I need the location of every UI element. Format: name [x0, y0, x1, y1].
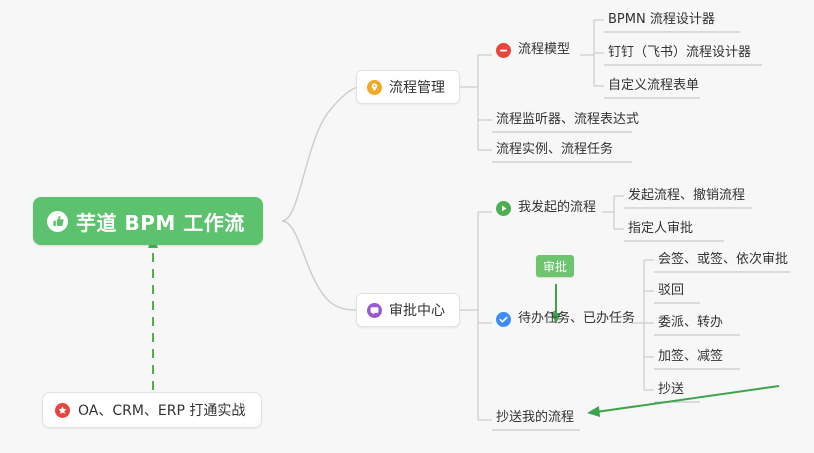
- node-label: 自定义流程表单: [608, 78, 699, 94]
- node-instance-task[interactable]: 流程实例、流程任务: [492, 140, 617, 162]
- play-circle-icon: [496, 201, 511, 216]
- node-my-started-process[interactable]: 我发起的流程: [492, 198, 600, 220]
- location-pin-icon: [367, 80, 382, 95]
- node-delegate-transfer[interactable]: 委派、转办: [654, 313, 727, 335]
- check-circle-icon: [496, 312, 511, 327]
- annotation-tag-approval[interactable]: 审批: [536, 255, 574, 277]
- tag-label: 审批: [543, 258, 567, 275]
- node-label: 待办任务、已办任务: [518, 311, 635, 327]
- node-start-cancel-process[interactable]: 发起流程、撤销流程: [624, 186, 749, 208]
- node-add-remove-sign[interactable]: 加签、减签: [654, 347, 727, 369]
- mindmap-canvas: 芋道 BPM 工作流 流程管理 流程模型 BPMN 流程设计器 钉钉（飞书）流程…: [0, 0, 814, 453]
- node-label: 驳回: [658, 283, 684, 299]
- branch-label: 审批中心: [389, 300, 445, 320]
- node-label: 会签、或签、依次审批: [658, 252, 788, 268]
- node-countersign[interactable]: 会签、或签、依次审批: [654, 250, 792, 272]
- node-todo-done-task[interactable]: 待办任务、已办任务: [492, 309, 639, 331]
- node-label: 钉钉（飞书）流程设计器: [608, 45, 751, 61]
- node-label: 流程监听器、流程表达式: [496, 112, 639, 128]
- node-label: 抄送我的流程: [496, 410, 574, 426]
- branch-node-approval-center[interactable]: 审批中心: [356, 293, 460, 327]
- minus-circle-icon: [496, 43, 511, 58]
- node-process-model[interactable]: 流程模型: [492, 40, 574, 62]
- node-label: 委派、转办: [658, 315, 723, 331]
- node-label: 指定人审批: [628, 221, 693, 237]
- branch-node-process-management[interactable]: 流程管理: [356, 70, 460, 104]
- star-circle-icon: [55, 403, 70, 418]
- node-cc[interactable]: 抄送: [654, 380, 688, 402]
- node-bpmn-designer[interactable]: BPMN 流程设计器: [604, 10, 719, 32]
- message-circle-icon: [367, 303, 382, 318]
- node-label: BPMN 流程设计器: [608, 12, 715, 28]
- node-cc-to-me[interactable]: 抄送我的流程: [492, 408, 578, 430]
- callout-node-integration[interactable]: OA、CRM、ERP 打通实战: [42, 392, 262, 428]
- branch-label: 流程管理: [389, 77, 445, 97]
- node-assign-approver[interactable]: 指定人审批: [624, 219, 697, 241]
- node-label: 我发起的流程: [518, 200, 596, 216]
- root-node[interactable]: 芋道 BPM 工作流: [33, 197, 263, 245]
- node-listener-expression[interactable]: 流程监听器、流程表达式: [492, 110, 643, 132]
- annotation-arrow-callout: [148, 236, 158, 390]
- node-label: 抄送: [658, 382, 684, 398]
- node-label: 流程实例、流程任务: [496, 142, 613, 158]
- thumbs-up-icon: [47, 211, 68, 232]
- node-dingtalk-designer[interactable]: 钉钉（飞书）流程设计器: [604, 43, 755, 65]
- node-reject[interactable]: 驳回: [654, 281, 688, 303]
- root-label: 芋道 BPM 工作流: [76, 207, 245, 236]
- node-label: 流程模型: [518, 42, 570, 58]
- callout-label: OA、CRM、ERP 打通实战: [78, 400, 245, 420]
- node-custom-form[interactable]: 自定义流程表单: [604, 76, 703, 98]
- node-label: 发起流程、撤销流程: [628, 188, 745, 204]
- node-label: 加签、减签: [658, 349, 723, 365]
